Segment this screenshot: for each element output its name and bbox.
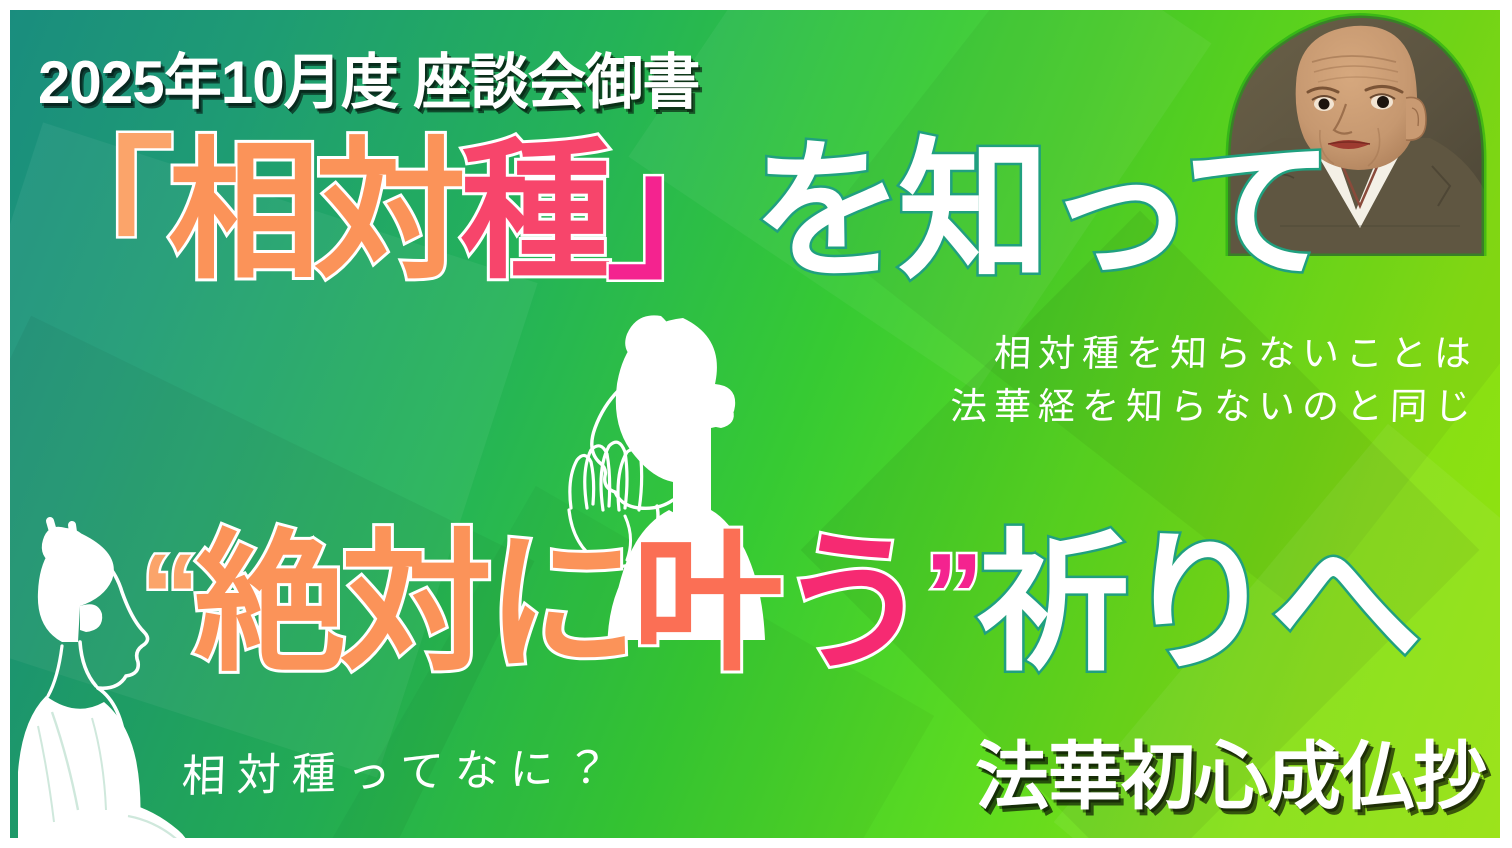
headline-word-u: う bbox=[778, 528, 924, 680]
headline-line1-tail: を知って bbox=[752, 136, 1328, 288]
sutra-title: 法華初心成仏抄 bbox=[975, 717, 1486, 824]
handwritten-question-left: 相対種ってなに？ bbox=[181, 731, 621, 804]
handwritten-note-right-line1: 相対種を知らないことは bbox=[949, 328, 1479, 381]
headline-line-1: 「相対種」を知って bbox=[22, 136, 1328, 288]
headline-word-shu: 種 bbox=[460, 136, 606, 288]
headline-quote-open: “ bbox=[140, 536, 194, 656]
headline-line2-tail: 祈りへ bbox=[978, 528, 1416, 680]
headline-bracket-close: 」 bbox=[606, 136, 752, 288]
headline-word-kanau-kanji: 叶 bbox=[632, 528, 778, 680]
poster-canvas: 2025年10月度 座談会御書 「相対種」を知って 相対種を知らないことは 法華… bbox=[10, 10, 1500, 838]
handwritten-note-right: 相対種を知らないことは 法華経を知らないのと同じ bbox=[950, 328, 1478, 433]
handwritten-note-right-line2: 法華経を知らないのと同じ bbox=[949, 381, 1479, 434]
spark-lines-icon bbox=[40, 515, 100, 575]
headline-word-zettaini: 絶対に bbox=[194, 528, 632, 680]
headline-quote-close: ” bbox=[924, 536, 978, 656]
headline-bracket-open: 「 bbox=[22, 136, 168, 288]
page-eyebrow-title: 2025年10月度 座談会御書 bbox=[38, 34, 699, 121]
headline-word-soutai: 相対 bbox=[168, 136, 460, 288]
headline-line-2: “絶対に叶う”祈りへ bbox=[140, 528, 1416, 680]
poster-root: 2025年10月度 座談会御書 「相対種」を知って 相対種を知らないことは 法華… bbox=[0, 0, 1512, 848]
